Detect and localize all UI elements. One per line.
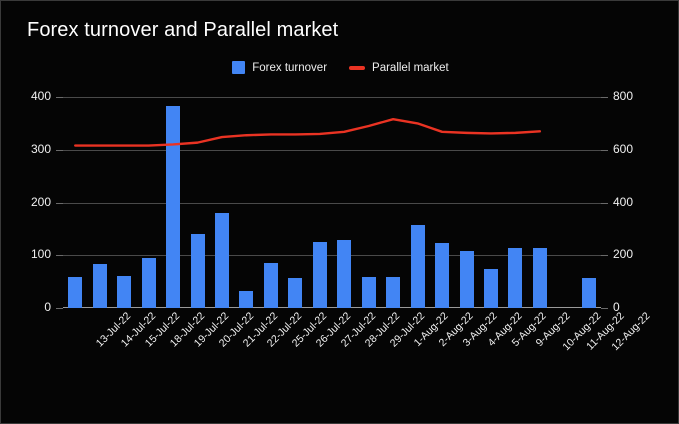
legend-label-parallel-market: Parallel market [372, 62, 449, 74]
y-axis-left-tick-mark [56, 255, 63, 256]
bar[interactable] [166, 106, 180, 308]
bar[interactable] [117, 276, 131, 308]
bar[interactable] [142, 258, 156, 308]
legend-swatch-line-icon [349, 66, 365, 70]
y-axis-right-tick-mark [601, 308, 608, 309]
bar[interactable] [191, 234, 205, 308]
bar[interactable] [239, 291, 253, 308]
x-axis-labels: 13-Jul-2214-Jul-2215-Jul-2218-Jul-2219-J… [63, 310, 601, 400]
y-axis-right-tick-mark [601, 203, 608, 204]
chart-legend: Forex turnover Parallel market [1, 61, 679, 74]
y-axis-right-tick-mark [601, 255, 608, 256]
y-axis-left-tick-label: 200 [1, 195, 51, 209]
bar[interactable] [215, 213, 229, 308]
bar[interactable] [533, 248, 547, 308]
y-axis-left-tick-mark [56, 203, 63, 204]
legend-item-forex-turnover[interactable]: Forex turnover [232, 61, 327, 74]
bar[interactable] [582, 278, 596, 308]
y-axis-right-tick-mark [601, 97, 608, 98]
y-axis-left-tick-mark [56, 97, 63, 98]
bar[interactable] [460, 251, 474, 308]
y-axis-left-tick-label: 400 [1, 89, 51, 103]
bar-series-forex-turnover [63, 97, 601, 308]
bar[interactable] [362, 277, 376, 308]
y-axis-right-tick-mark [601, 150, 608, 151]
plot-area [63, 97, 601, 308]
legend-label-forex-turnover: Forex turnover [252, 62, 327, 74]
y-axis-right-tick-label: 400 [613, 195, 633, 209]
bar[interactable] [288, 278, 302, 308]
bar[interactable] [313, 242, 327, 308]
bar[interactable] [386, 277, 400, 308]
bar[interactable] [435, 243, 449, 308]
y-axis-left-tick-label: 100 [1, 247, 51, 261]
bar[interactable] [411, 225, 425, 308]
bar[interactable] [68, 277, 82, 308]
legend-item-parallel-market[interactable]: Parallel market [349, 62, 449, 74]
chart-container: Forex turnover and Parallel market Forex… [0, 0, 679, 424]
y-axis-left-tick-mark [56, 308, 63, 309]
bar[interactable] [264, 263, 278, 308]
y-axis-right-tick-label: 600 [613, 142, 633, 156]
bar[interactable] [484, 269, 498, 308]
y-axis-right-tick-label: 200 [613, 247, 633, 261]
legend-swatch-bar-icon [232, 61, 245, 74]
y-axis-left-tick-label: 0 [1, 300, 51, 314]
bar[interactable] [337, 240, 351, 308]
y-axis-right-tick-label: 800 [613, 89, 633, 103]
bar[interactable] [508, 248, 522, 308]
chart-title: Forex turnover and Parallel market [27, 19, 338, 42]
y-axis-left-tick-label: 300 [1, 142, 51, 156]
y-axis-left-tick-mark [56, 150, 63, 151]
bar[interactable] [93, 264, 107, 308]
